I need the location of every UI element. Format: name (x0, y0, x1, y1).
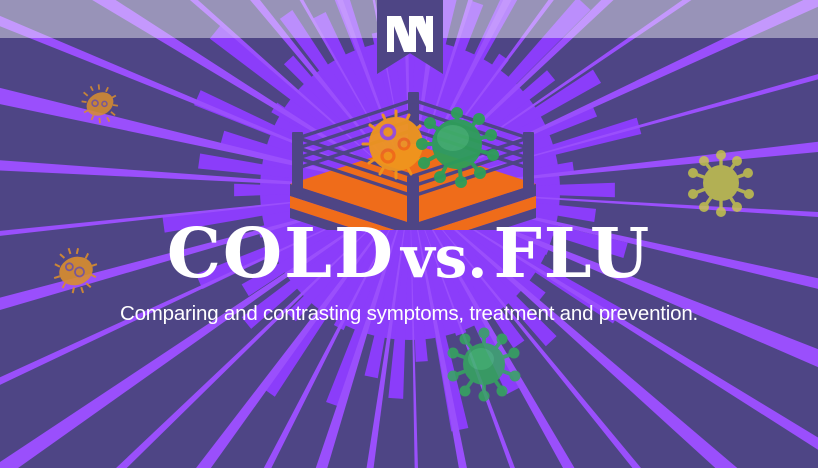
nm-monogram-icon (387, 16, 433, 52)
title-part-two: FLU (494, 214, 652, 294)
title-block: COLDvs.FLU Comparing and contrasting sym… (0, 216, 818, 327)
infographic-header-banner: COLDvs.FLU Comparing and contrasting sym… (0, 0, 818, 468)
page-title: COLDvs.FLU (0, 216, 818, 295)
page-subtitle: Comparing and contrasting symptoms, trea… (0, 301, 818, 327)
title-versus: vs. (395, 223, 494, 291)
boxing-ring (268, 92, 558, 230)
title-part-one: COLD (167, 214, 395, 294)
